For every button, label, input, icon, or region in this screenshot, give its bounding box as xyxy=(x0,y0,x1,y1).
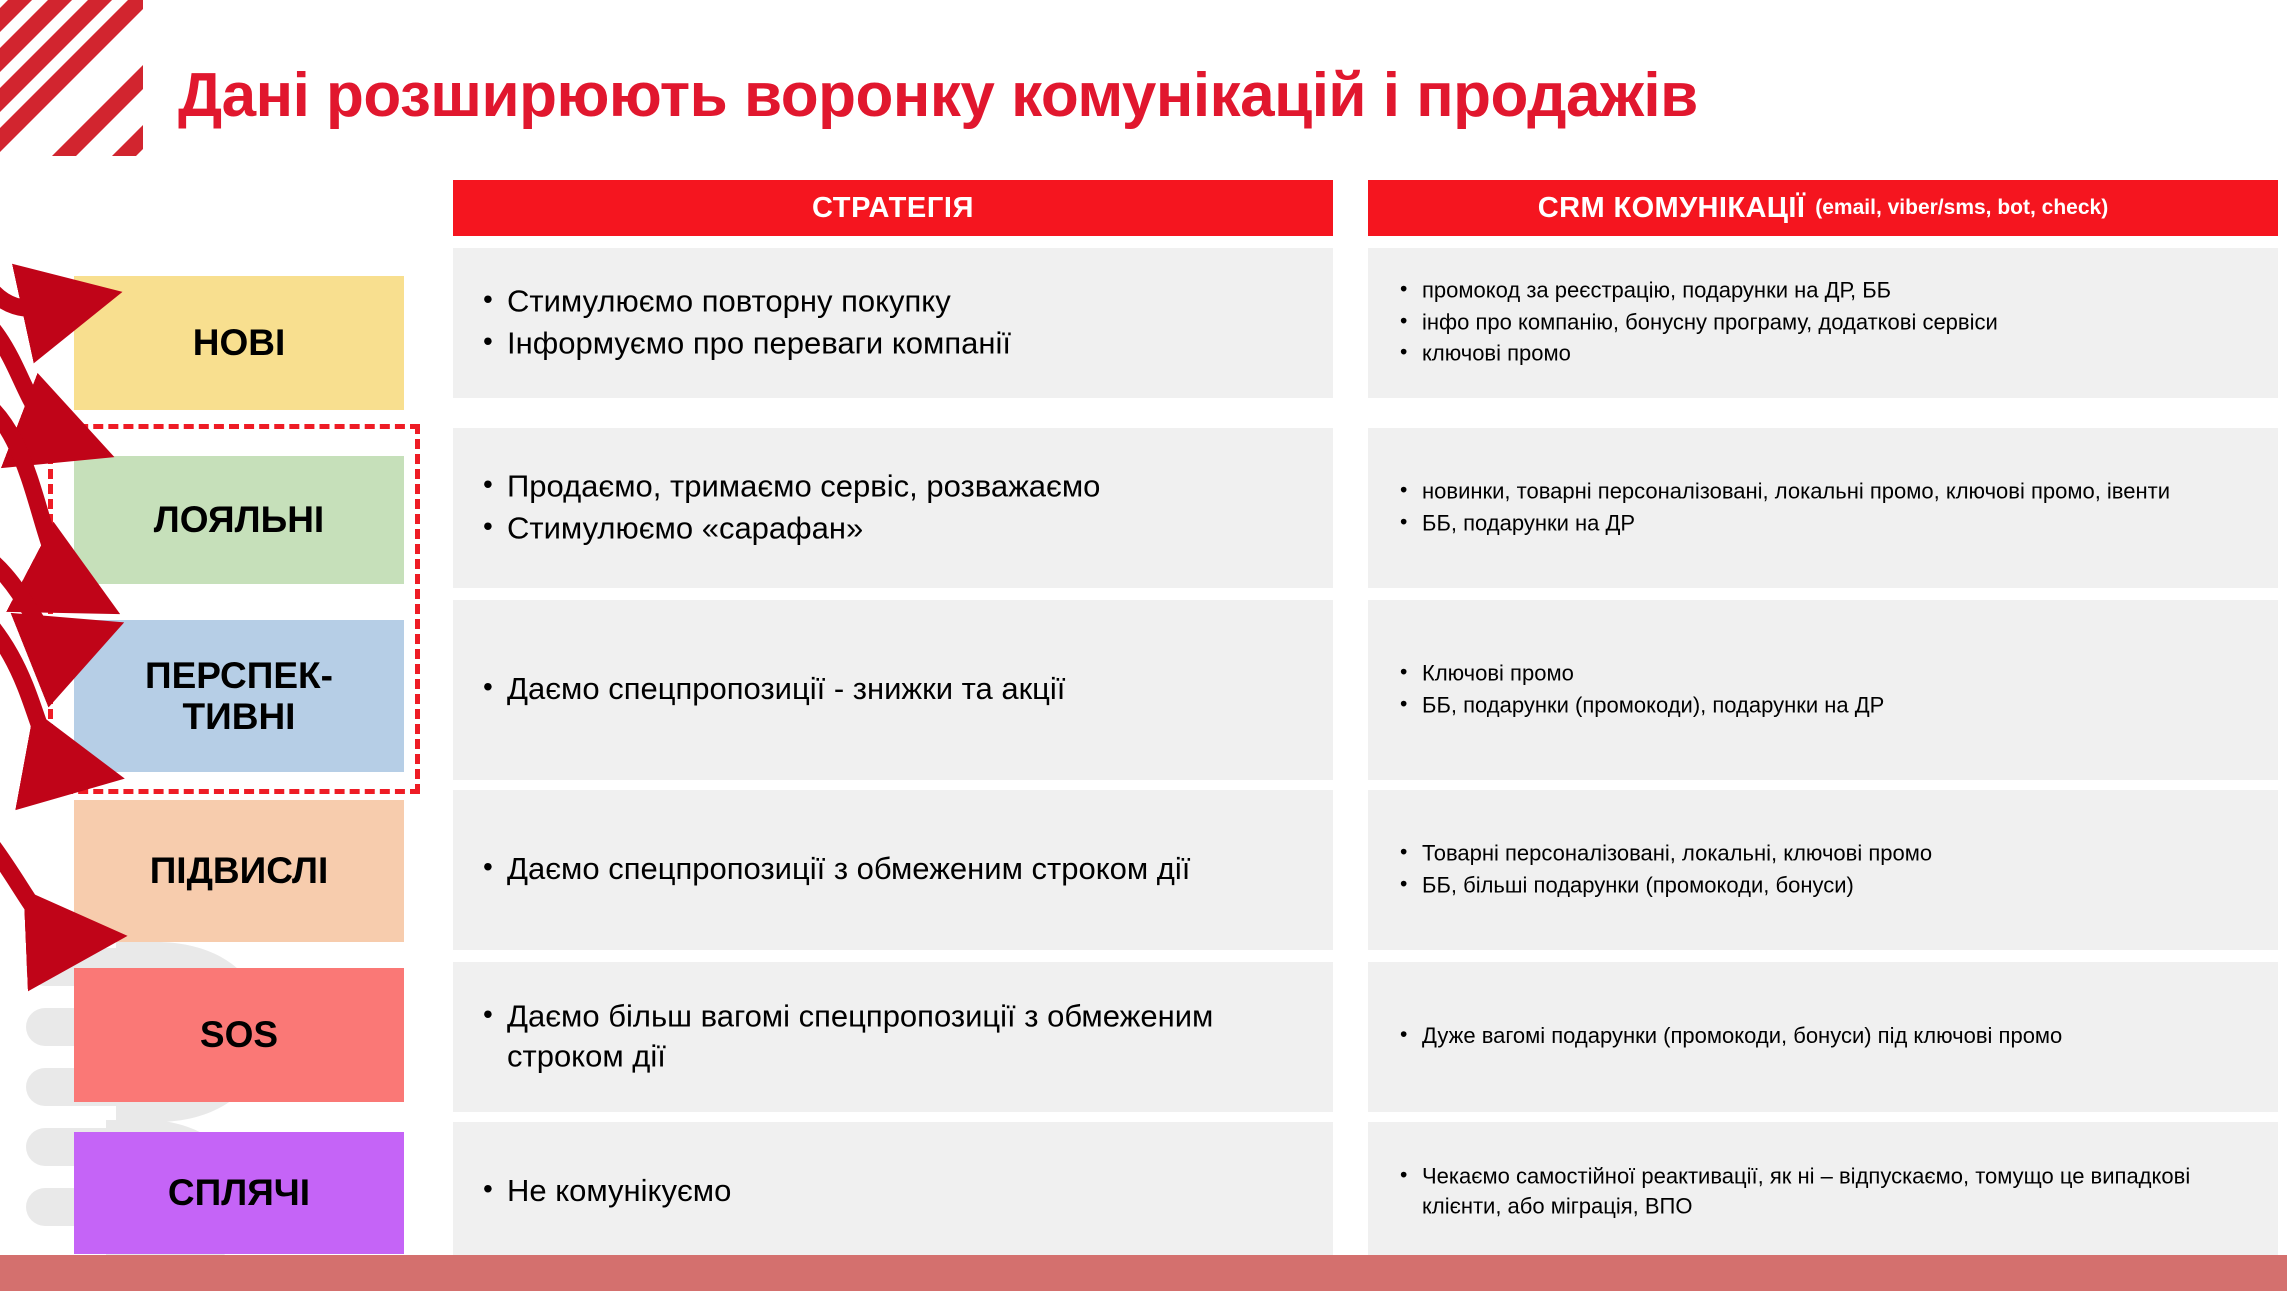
cell-content: промокод за реєстрацію, подарунки на ДР,… xyxy=(1390,275,2258,370)
footer-bar xyxy=(0,1255,2287,1291)
page-title: Дані розширюють воронку комунікацій і пр… xyxy=(178,60,2178,131)
bullet-list: Продаємо, тримаємо сервіс, розважаємоСти… xyxy=(477,466,1319,547)
bullet-item: Ключові промо xyxy=(1390,658,2258,688)
bullet-item: ключові промо xyxy=(1390,339,2258,369)
bullet-item: ББ, подарунки (промокоди), подарунки на … xyxy=(1390,690,2258,720)
bullet-item: ББ, подарунки на ДР xyxy=(1390,508,2258,538)
bullet-item: Стимулюємо повторну покупку xyxy=(477,281,1319,321)
segment-label: ЛОЯЛЬНІ xyxy=(154,499,324,540)
cell-strategy: Стимулюємо повторну покупкуІнформуємо пр… xyxy=(453,248,1333,398)
bullet-list: Товарні персоналізовані, локальні, ключо… xyxy=(1390,838,2258,899)
bullet-item: Стимулюємо «сарафан» xyxy=(477,508,1319,548)
cell-crm: Ключові промоББ, подарунки (промокоди), … xyxy=(1368,600,2278,780)
segment-block: ПІДВИСЛІ xyxy=(74,800,404,942)
cell-content: Даємо більш вагомі спецпропозиції з обме… xyxy=(477,996,1319,1077)
bullet-item: Дуже вагомі подарунки (промокоди, бонуси… xyxy=(1390,1021,2258,1051)
bullet-item: Даємо більш вагомі спецпропозиції з обме… xyxy=(477,996,1319,1075)
bullet-item: Товарні персоналізовані, локальні, ключо… xyxy=(1390,838,2258,868)
cell-crm: Товарні персоналізовані, локальні, ключо… xyxy=(1368,790,2278,950)
cell-crm: новинки, товарні персоналізовані, локаль… xyxy=(1368,428,2278,588)
segment-block: ПЕРСПЕК-ТИВНІ xyxy=(74,620,404,772)
bullet-list: Не комунікуємо xyxy=(477,1171,1319,1211)
cell-content: Не комунікуємо xyxy=(477,1171,1319,1213)
segment-label: НОВІ xyxy=(193,322,286,363)
cell-content: Продаємо, тримаємо сервіс, розважаємоСти… xyxy=(477,466,1319,549)
column-header-strategy: СТРАТЕГІЯ xyxy=(453,180,1333,236)
bullet-list: Дуже вагомі подарунки (промокоди, бонуси… xyxy=(1390,1021,2258,1051)
column-header-crm-sublabel: (email, viber/sms, bot, check) xyxy=(1815,196,2108,220)
cell-strategy: Даємо спецпропозиції - знижки та акції xyxy=(453,600,1333,780)
cell-strategy: Даємо більш вагомі спецпропозиції з обме… xyxy=(453,962,1333,1112)
bullet-list: Даємо спецпропозиції - знижки та акції xyxy=(477,669,1319,709)
segment-block: СПЛЯЧІ xyxy=(74,1132,404,1254)
bullet-item: Продаємо, тримаємо сервіс, розважаємо xyxy=(477,466,1319,506)
bullet-item: Не комунікуємо xyxy=(477,1171,1319,1211)
bullet-item: ББ, більші подарунки (промокоди, бонуси) xyxy=(1390,870,2258,900)
cell-strategy: Продаємо, тримаємо сервіс, розважаємоСти… xyxy=(453,428,1333,588)
bullet-item: інфо про компанію, бонусну програму, дод… xyxy=(1390,307,2258,337)
cell-content: Даємо спецпропозиції з обмеженим строком… xyxy=(477,849,1319,891)
segment-label: ПІДВИСЛІ xyxy=(150,850,329,891)
bullet-item: Даємо спецпропозиції з обмеженим строком… xyxy=(477,849,1319,889)
cell-strategy: Даємо спецпропозиції з обмеженим строком… xyxy=(453,790,1333,950)
segment-label: СПЛЯЧІ xyxy=(168,1172,310,1213)
segment-label: ПЕРСПЕК-ТИВНІ xyxy=(145,655,333,738)
bullet-item: промокод за реєстрацію, подарунки на ДР,… xyxy=(1390,275,2258,305)
bullet-item: Чекаємо самостійної реактивації, як ні –… xyxy=(1390,1161,2258,1220)
segment-block: НОВІ xyxy=(74,276,404,410)
cell-content: Стимулюємо повторну покупкуІнформуємо пр… xyxy=(477,281,1319,364)
bullet-list: Даємо спецпропозиції з обмеженим строком… xyxy=(477,849,1319,889)
cell-content: Даємо спецпропозиції - знижки та акції xyxy=(477,669,1319,711)
cell-crm: Чекаємо самостійної реактивації, як ні –… xyxy=(1368,1122,2278,1262)
bullet-item: Інформуємо про переваги компанії xyxy=(477,323,1319,363)
cell-content: Дуже вагомі подарунки (промокоди, бонуси… xyxy=(1390,1021,2258,1053)
column-header-crm-label: CRM КОМУНІКАЦІЇ xyxy=(1538,192,1805,225)
bullet-list: Чекаємо самостійної реактивації, як ні –… xyxy=(1390,1161,2258,1220)
cell-crm: промокод за реєстрацію, подарунки на ДР,… xyxy=(1368,248,2278,398)
bullet-item: новинки, товарні персоналізовані, локаль… xyxy=(1390,476,2258,506)
cell-content: новинки, товарні персоналізовані, локаль… xyxy=(1390,476,2258,539)
cell-crm: Дуже вагомі подарунки (промокоди, бонуси… xyxy=(1368,962,2278,1112)
segment-block: ЛОЯЛЬНІ xyxy=(74,456,404,584)
bullet-list: промокод за реєстрацію, подарунки на ДР,… xyxy=(1390,275,2258,368)
bullet-item: Даємо спецпропозиції - знижки та акції xyxy=(477,669,1319,709)
cell-content: Товарні персоналізовані, локальні, ключо… xyxy=(1390,838,2258,901)
cell-content: Ключові промоББ, подарунки (промокоди), … xyxy=(1390,658,2258,721)
column-header-crm: CRM КОМУНІКАЦІЇ (email, viber/sms, bot, … xyxy=(1368,180,2278,236)
cell-strategy: Не комунікуємо xyxy=(453,1122,1333,1262)
bullet-list: Стимулюємо повторну покупкуІнформуємо пр… xyxy=(477,281,1319,362)
segment-label: SOS xyxy=(200,1014,278,1055)
cell-content: Чекаємо самостійної реактивації, як ні –… xyxy=(1390,1161,2258,1222)
bullet-list: Даємо більш вагомі спецпропозиції з обме… xyxy=(477,996,1319,1075)
diagonal-stripes-decoration xyxy=(0,0,143,156)
bullet-list: Ключові промоББ, подарунки (промокоди), … xyxy=(1390,658,2258,719)
bullet-list: новинки, товарні персоналізовані, локаль… xyxy=(1390,476,2258,537)
segment-block: SOS xyxy=(74,968,404,1102)
column-header-strategy-label: СТРАТЕГІЯ xyxy=(812,192,974,225)
